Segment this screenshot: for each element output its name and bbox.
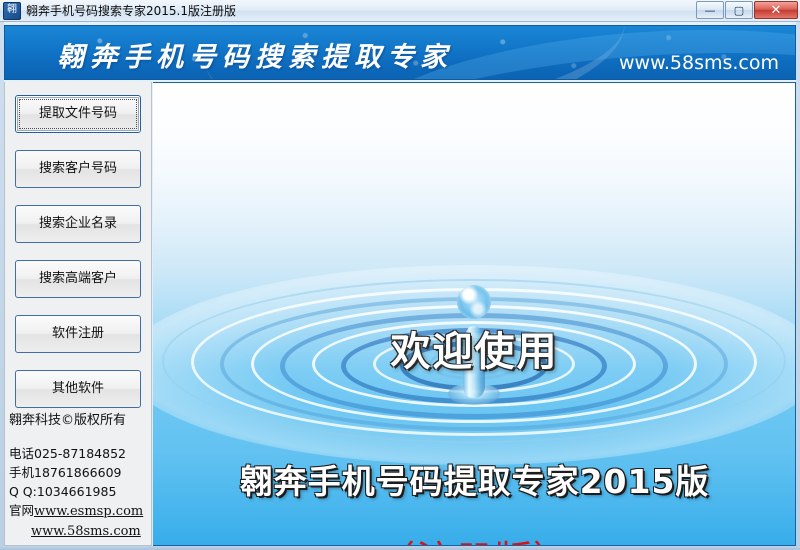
official-site-line-1: 官网www.esmsp.com: [5, 501, 151, 521]
water-droplet-bubble-icon: [457, 285, 491, 319]
sidebar-button-list: 提取文件号码 搜索客户号码 搜索企业名录 搜索高端客户 软件注册 其他软件: [5, 82, 151, 425]
application-window: 翱奔手机号码搜索专家2015.1版注册版 — ▢ ✕ 翱奔手机号码搜索提取专家 …: [0, 0, 800, 550]
official-site-line-2: www.58sms.com: [5, 521, 151, 541]
window-controls: — ▢ ✕: [696, 1, 798, 19]
header-banner: 翱奔手机号码搜索提取专家 www.58sms.com: [4, 25, 796, 80]
title-bar: 翱奔手机号码搜索专家2015.1版注册版 — ▢ ✕: [0, 0, 800, 22]
welcome-heading: 欢迎使用: [153, 319, 796, 377]
contact-qq: Q Q:1034661985: [5, 482, 151, 501]
window-frame-right: [796, 22, 800, 550]
maximize-icon: ▢: [726, 2, 752, 18]
sidebar-item-other-software[interactable]: 其他软件: [15, 370, 141, 408]
copyright-text: 翱奔科技©版权所有: [5, 409, 151, 428]
website-link-esmsp[interactable]: www.esmsp.com: [34, 504, 143, 519]
window-title: 翱奔手机号码搜索专家2015.1版注册版: [26, 2, 236, 19]
sidebar-item-software-registration[interactable]: 软件注册: [15, 315, 141, 353]
website-link-58sms[interactable]: www.58sms.com: [31, 524, 141, 539]
sidebar: 提取文件号码 搜索客户号码 搜索企业名录 搜索高端客户 软件注册 其他软件 翱奔…: [4, 82, 152, 546]
close-button[interactable]: ✕: [754, 1, 798, 19]
sidebar-item-search-customer-numbers[interactable]: 搜索客户号码: [15, 150, 141, 188]
app-logo-icon: [3, 2, 21, 20]
banner-title: 翱奔手机号码搜索提取专家: [57, 35, 453, 74]
close-icon: ✕: [755, 2, 797, 18]
main-content-panel: 欢迎使用 翱奔手机号码提取专家2015版 （注册版）: [153, 82, 796, 546]
contact-mobile: 手机18761866609: [5, 463, 151, 482]
window-frame-bottom: [0, 546, 800, 550]
registered-version-badge: （注册版）: [153, 529, 796, 546]
product-name-heading: 翱奔手机号码提取专家2015版: [153, 455, 796, 503]
sidebar-item-search-enterprise-directory[interactable]: 搜索企业名录: [15, 205, 141, 243]
sidebar-item-search-premium-customers[interactable]: 搜索高端客户: [15, 260, 141, 298]
sidebar-footer: 翱奔科技©版权所有 电话025-87184852 手机18761866609 Q…: [5, 409, 151, 541]
official-site-label: 官网: [9, 503, 34, 518]
contact-phone: 电话025-87184852: [5, 444, 151, 463]
minimize-button[interactable]: —: [696, 1, 724, 19]
minimize-icon: —: [697, 2, 723, 18]
maximize-button[interactable]: ▢: [725, 1, 753, 19]
sidebar-item-extract-file-numbers[interactable]: 提取文件号码: [15, 95, 141, 133]
banner-website-url: www.58sms.com: [619, 52, 779, 74]
